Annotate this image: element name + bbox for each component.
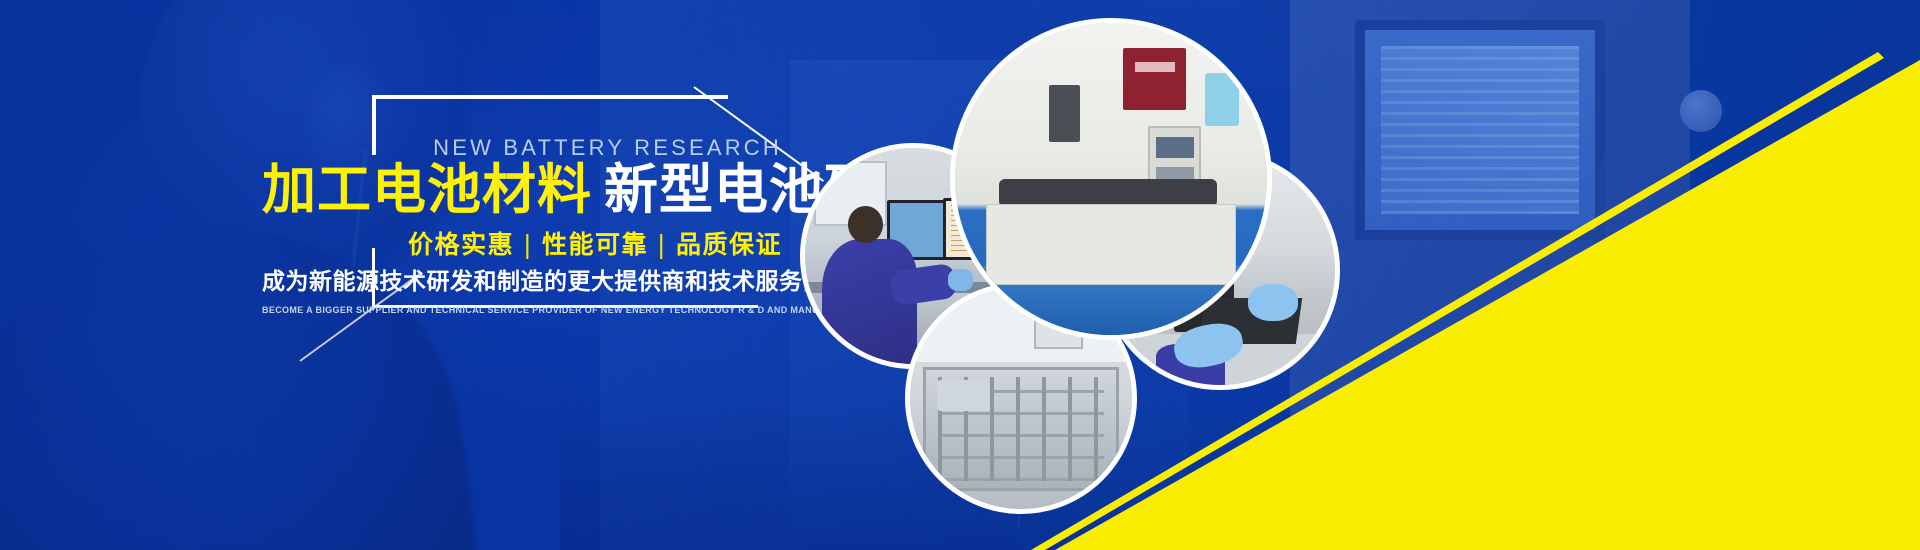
fire-control-panel <box>1123 48 1185 110</box>
tagline-item-performance: 性能可靠 <box>542 230 648 259</box>
water-jug <box>1205 73 1239 126</box>
headline-primary: 加工电池材料 <box>262 158 592 221</box>
tagline-separator: | <box>657 230 667 259</box>
banner-copy: NEW BATTERY RESEARCH 加工电池材料新型电池研究 价格实惠|性… <box>262 136 782 316</box>
headline: 加工电池材料新型电池研究 <box>262 162 782 218</box>
machine-roller <box>999 179 1217 207</box>
promo-banner: NEW BATTERY RESEARCH 加工电池材料新型电池研究 价格实惠|性… <box>0 0 1920 550</box>
worker-head <box>848 206 883 243</box>
photo-circle-coating-machine <box>950 18 1272 340</box>
description-line: 成为新能源技术研发和制造的更大提供商和技术服务商 <box>262 268 782 297</box>
rack-cylinder <box>937 380 990 411</box>
waste-bin <box>1049 85 1080 141</box>
photo-coating-machine <box>955 23 1267 335</box>
tagline-item-quality: 品质保证 <box>676 230 782 259</box>
tagline-separator: | <box>523 230 533 259</box>
english-caption: BECOME A BIGGER SUPPLIER AND TECHNICAL S… <box>262 305 782 316</box>
frame-top-bar <box>372 95 728 99</box>
tagline-item-price: 价格实惠 <box>408 230 514 259</box>
machine-body <box>986 204 1236 285</box>
english-eyebrow: NEW BATTERY RESEARCH <box>262 136 782 160</box>
tagline: 价格实惠|性能可靠|品质保证 <box>262 230 782 260</box>
